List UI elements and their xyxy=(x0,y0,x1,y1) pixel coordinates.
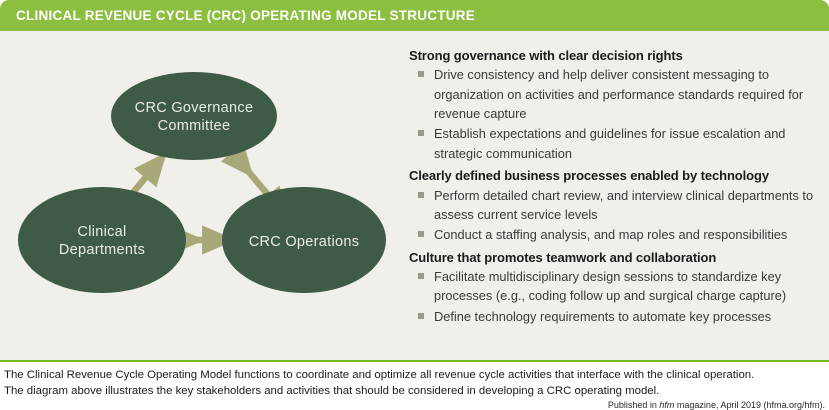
footer-caption-line-1: The Clinical Revenue Cycle Operating Mod… xyxy=(4,369,754,381)
bullet-square-icon xyxy=(418,71,424,77)
figure-header-bar: CLINICAL REVENUE CYCLE (CRC) OPERATING M… xyxy=(0,0,829,31)
bullet-square-icon xyxy=(418,130,424,136)
list-item-text: Facilitate multidisciplinary design sess… xyxy=(434,269,786,303)
publication-attribution: Published in hfm magazine, April 2019 (h… xyxy=(608,400,825,410)
section-heading: Strong governance with clear decision ri… xyxy=(409,47,821,64)
footer-caption-line-2: The diagram above illustrates the key st… xyxy=(4,385,659,397)
crc-venn-diagram: CRC Governance Committee Clinical Depart… xyxy=(0,31,400,360)
figure-title: CLINICAL REVENUE CYCLE (CRC) OPERATING M… xyxy=(16,8,475,23)
node-label-clinical-line1: Clinical xyxy=(77,224,126,240)
section-heading: Clearly defined business processes enabl… xyxy=(409,167,821,184)
section-business-processes: Clearly defined business processes enabl… xyxy=(409,167,821,244)
key-activities-list: Strong governance with clear decision ri… xyxy=(409,47,821,327)
section-bullets: Perform detailed chart review, and inter… xyxy=(409,186,821,245)
crc-operating-model-figure: CLINICAL REVENUE CYCLE (CRC) OPERATING M… xyxy=(0,0,829,410)
section-culture: Culture that promotes teamwork and colla… xyxy=(409,249,821,326)
bullet-square-icon xyxy=(418,192,424,198)
attribution-suffix: magazine, April 2019 (hfma.org/hfm). xyxy=(674,400,825,410)
section-heading: Culture that promotes teamwork and colla… xyxy=(409,249,821,266)
list-item: Define technology requirements to automa… xyxy=(409,307,821,326)
node-crc-operations[interactable]: CRC Operations xyxy=(222,187,386,293)
node-label-clinical-line2: Departments xyxy=(59,242,145,258)
node-label-governance-line1: CRC Governance xyxy=(135,100,254,116)
bullet-square-icon xyxy=(418,273,424,279)
list-item: Facilitate multidisciplinary design sess… xyxy=(409,267,821,306)
list-item-text: Conduct a staffing analysis, and map rol… xyxy=(434,227,787,242)
bullet-square-icon xyxy=(418,231,424,237)
list-item-text: Define technology requirements to automa… xyxy=(434,309,771,324)
list-item-text: Establish expectations and guidelines fo… xyxy=(434,126,785,160)
attribution-publication-name: hfm xyxy=(659,400,674,410)
node-label-operations-line1: CRC Operations xyxy=(249,234,360,250)
list-item: Drive consistency and help deliver consi… xyxy=(409,65,821,123)
node-clinical-departments[interactable]: Clinical Departments xyxy=(18,187,186,293)
node-crc-governance-committee[interactable]: CRC Governance Committee xyxy=(111,72,277,160)
section-governance: Strong governance with clear decision ri… xyxy=(409,47,821,163)
list-item: Conduct a staffing analysis, and map rol… xyxy=(409,225,821,244)
figure-footer: The Clinical Revenue Cycle Operating Mod… xyxy=(0,362,829,410)
section-bullets: Drive consistency and help deliver consi… xyxy=(409,65,821,163)
attribution-prefix: Published in xyxy=(608,400,660,410)
list-item: Establish expectations and guidelines fo… xyxy=(409,124,821,163)
figure-body-panel: CRC Governance Committee Clinical Depart… xyxy=(0,31,829,360)
section-bullets: Facilitate multidisciplinary design sess… xyxy=(409,267,821,326)
bullet-square-icon xyxy=(418,313,424,319)
list-item: Perform detailed chart review, and inter… xyxy=(409,186,821,225)
node-label-governance-line2: Committee xyxy=(158,118,231,134)
list-item-text: Perform detailed chart review, and inter… xyxy=(434,188,813,222)
list-item-text: Drive consistency and help deliver consi… xyxy=(434,67,803,121)
